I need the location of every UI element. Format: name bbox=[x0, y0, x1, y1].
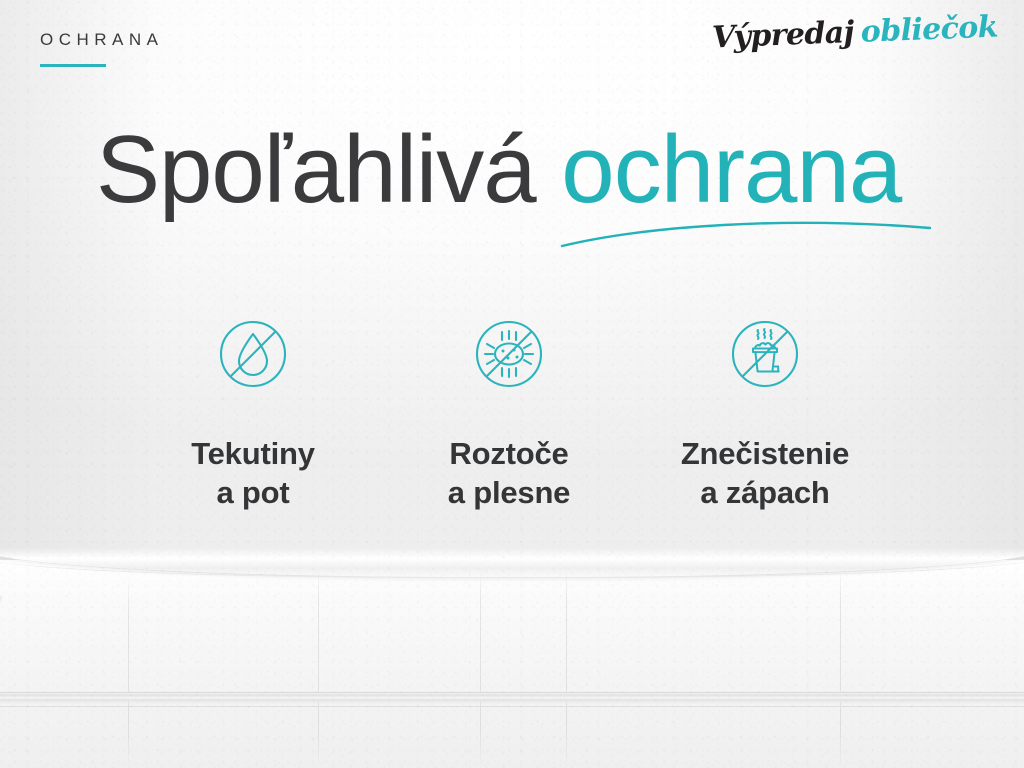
page-title-part-teal: ochrana bbox=[561, 116, 901, 223]
no-dirt-odor-trashbin-icon bbox=[729, 318, 801, 390]
page-title: Spoľahlivá ochrana bbox=[96, 122, 901, 218]
kicker-block: OCHRANA bbox=[40, 30, 164, 67]
feature-label-liquids: Tekutiny a pot bbox=[191, 434, 315, 512]
feature-label-mites: Roztoče a plesne bbox=[448, 434, 570, 512]
no-dust-mite-icon bbox=[473, 318, 545, 390]
kicker-underline bbox=[40, 64, 106, 67]
headline-swoosh-underline bbox=[556, 208, 936, 256]
no-liquid-droplet-icon bbox=[217, 318, 289, 390]
feature-label-dirt-odor: Znečistenie a zápach bbox=[681, 434, 849, 512]
feature-item-dirt-odor[interactable]: Znečistenie a zápach bbox=[637, 318, 893, 512]
kicker-label: OCHRANA bbox=[40, 30, 164, 50]
brand-word-vypredaj: Výpredaj bbox=[711, 15, 854, 55]
brand-word-obliecok: obliečok bbox=[860, 10, 998, 50]
features-row: Tekutiny a pot bbox=[0, 318, 1024, 512]
page-title-part-dark: Spoľahlivá bbox=[96, 116, 536, 223]
feature-item-mites[interactable]: Roztoče a plesne bbox=[381, 318, 637, 512]
feature-item-liquids[interactable]: Tekutiny a pot bbox=[125, 318, 381, 512]
slide-stage: OCHRANA Výpredajobliečok Spoľahlivá ochr… bbox=[0, 0, 1024, 768]
